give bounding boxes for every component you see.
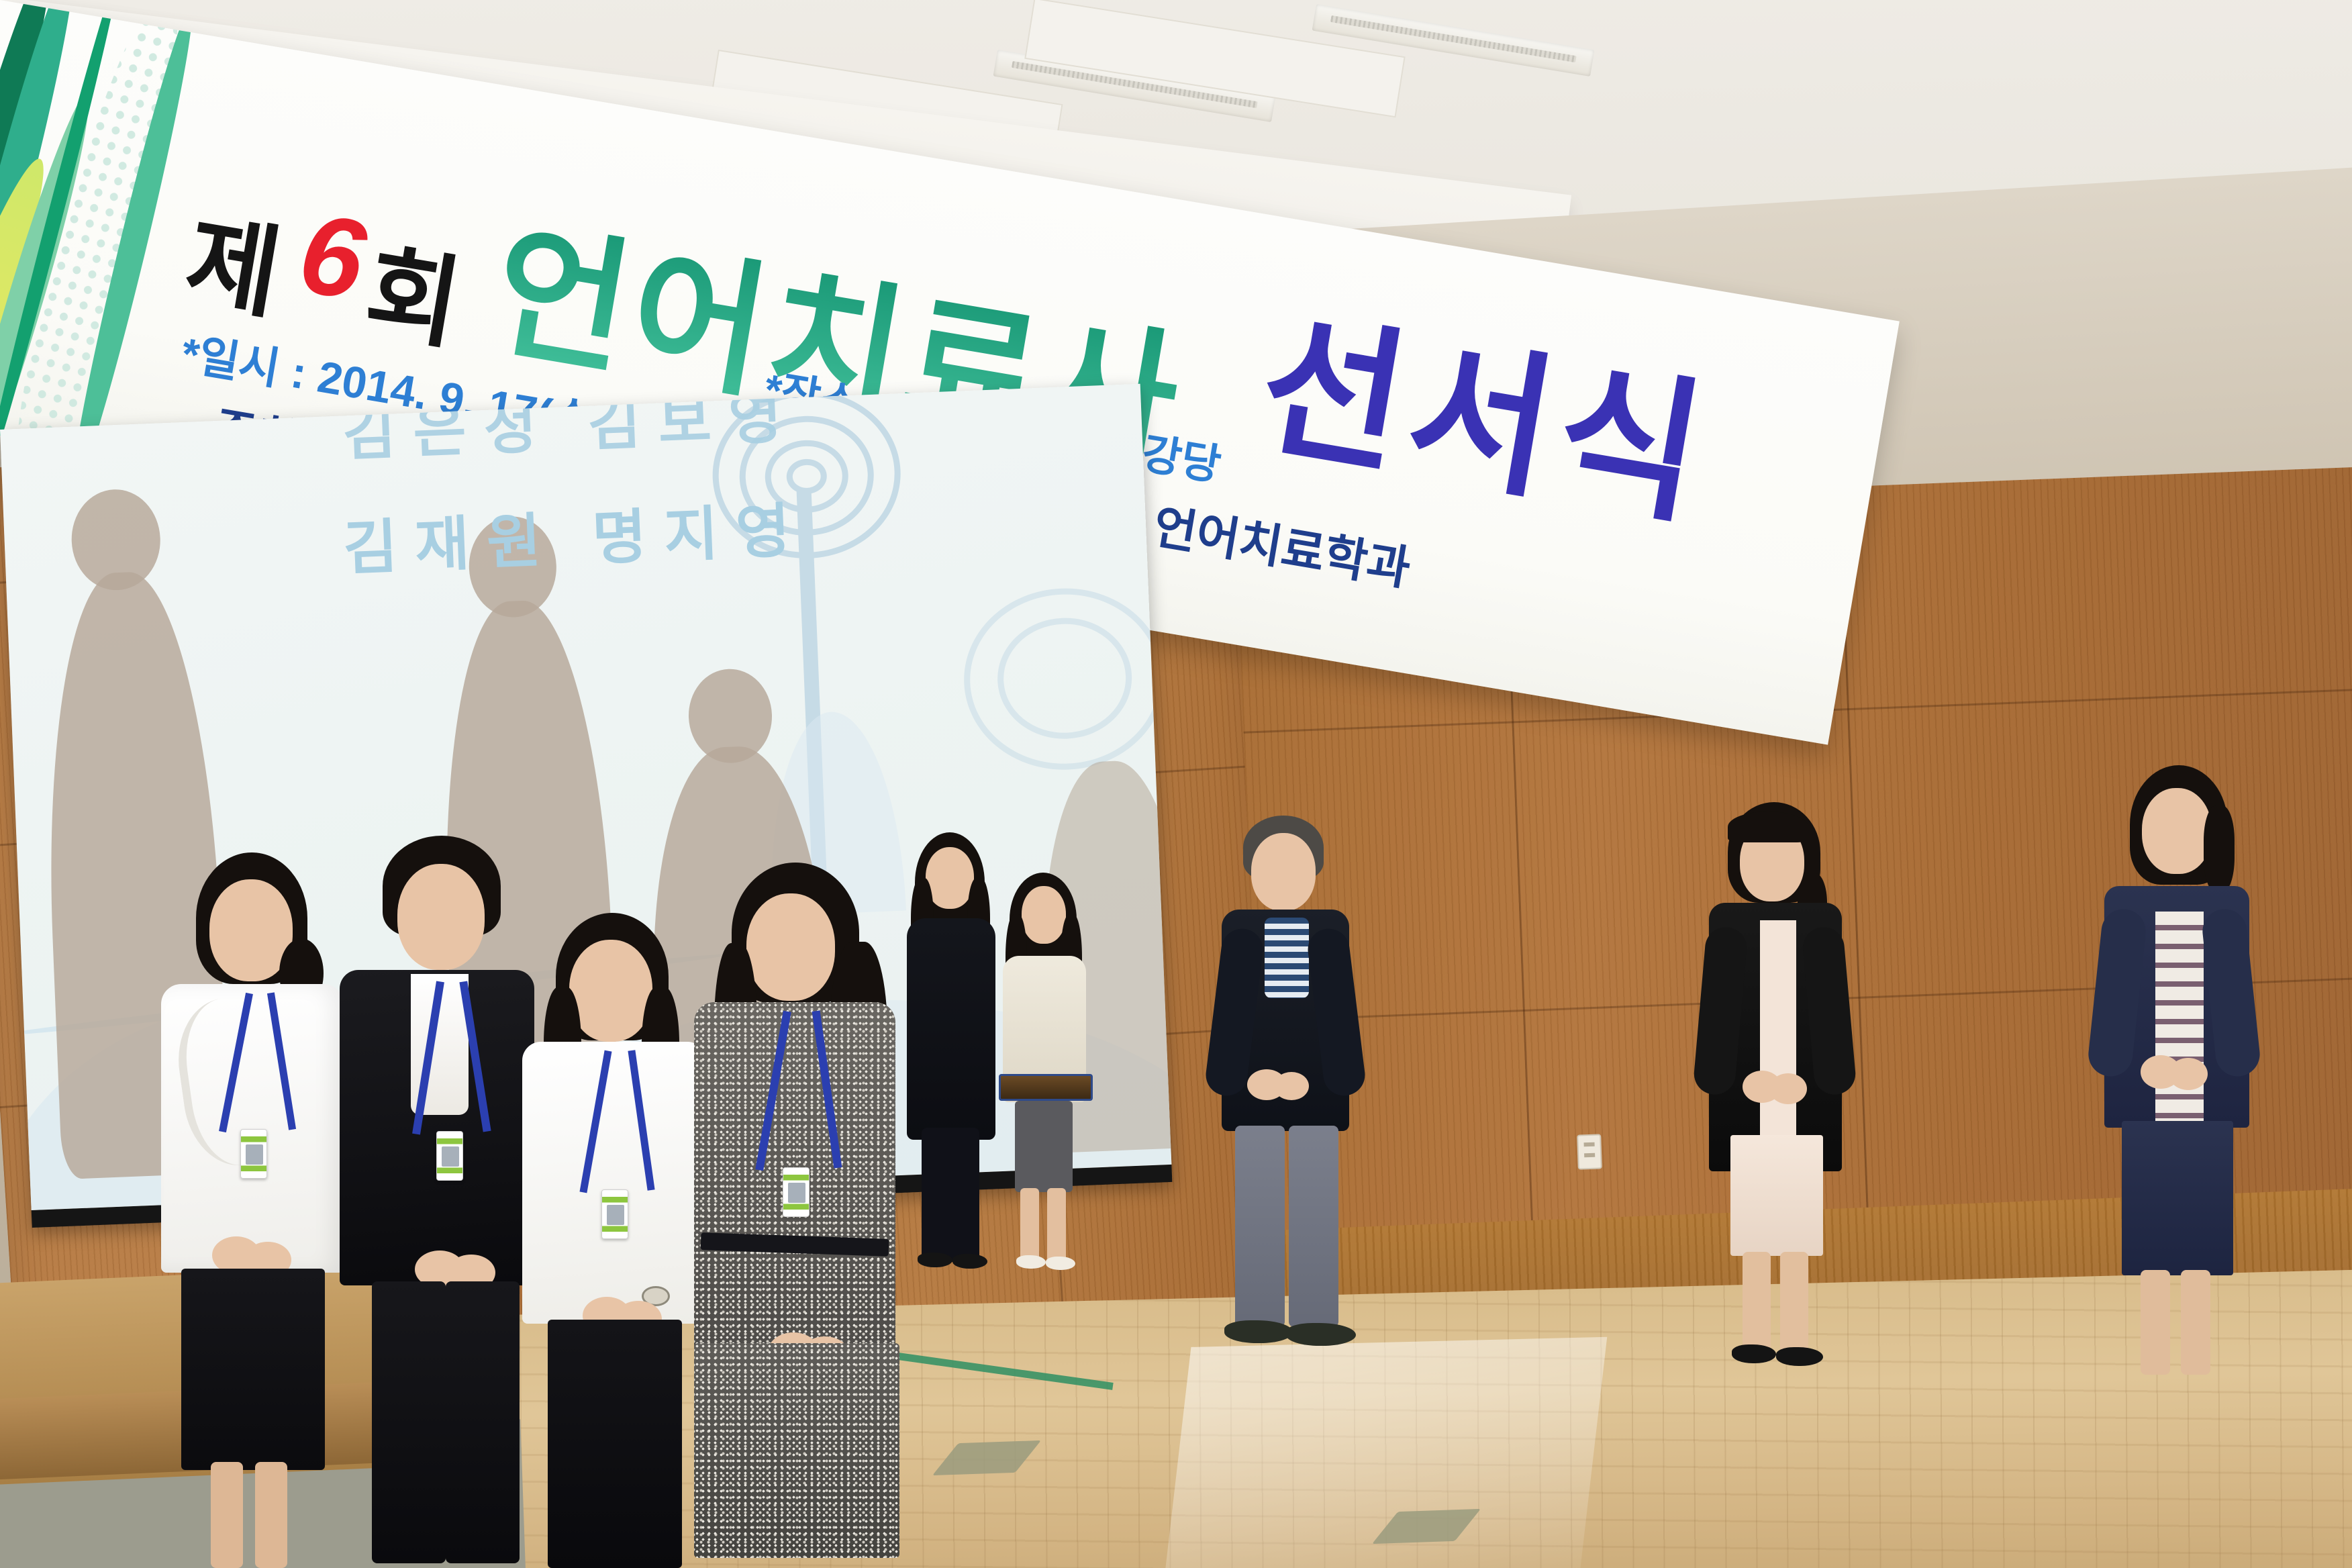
person-graduate-1 <box>154 852 356 1568</box>
award-plaque <box>999 1074 1093 1101</box>
dress-skirt <box>694 1343 899 1558</box>
striped-top <box>2155 912 2204 1140</box>
person-graduate-4 <box>685 863 913 1568</box>
banner-ordinal-number: 6 <box>291 187 373 326</box>
black-trousers <box>548 1320 682 1568</box>
id-badge <box>240 1129 267 1179</box>
banner-ordinal-prefix: 제 <box>177 180 291 339</box>
banner-title-blue: 선서식 <box>1246 258 1728 555</box>
projected-name-row-bottom: 김재원 명지영 <box>3 469 1147 600</box>
navy-skirt <box>2122 1121 2233 1275</box>
striped-tee <box>1265 918 1309 998</box>
cream-dress <box>1730 1135 1823 1256</box>
black-skirt <box>181 1269 325 1470</box>
person-graduate-2 <box>336 836 544 1568</box>
banner-ordinal-suffix: 회 <box>357 210 471 369</box>
person-attendant-right <box>993 873 1094 1262</box>
wall-outlet <box>1577 1134 1602 1169</box>
person-faculty-far-right <box>2091 765 2259 1369</box>
person-faculty-centre <box>1215 816 1356 1326</box>
id-badge <box>783 1167 810 1217</box>
person-faculty-right <box>1698 802 1853 1366</box>
id-badge <box>601 1189 628 1239</box>
auditorium-photograph: 제 6 회 언어치료사 선서식 *일시 : 2014. 9. 17(수) *장소… <box>0 0 2352 1568</box>
id-badge <box>436 1131 463 1181</box>
